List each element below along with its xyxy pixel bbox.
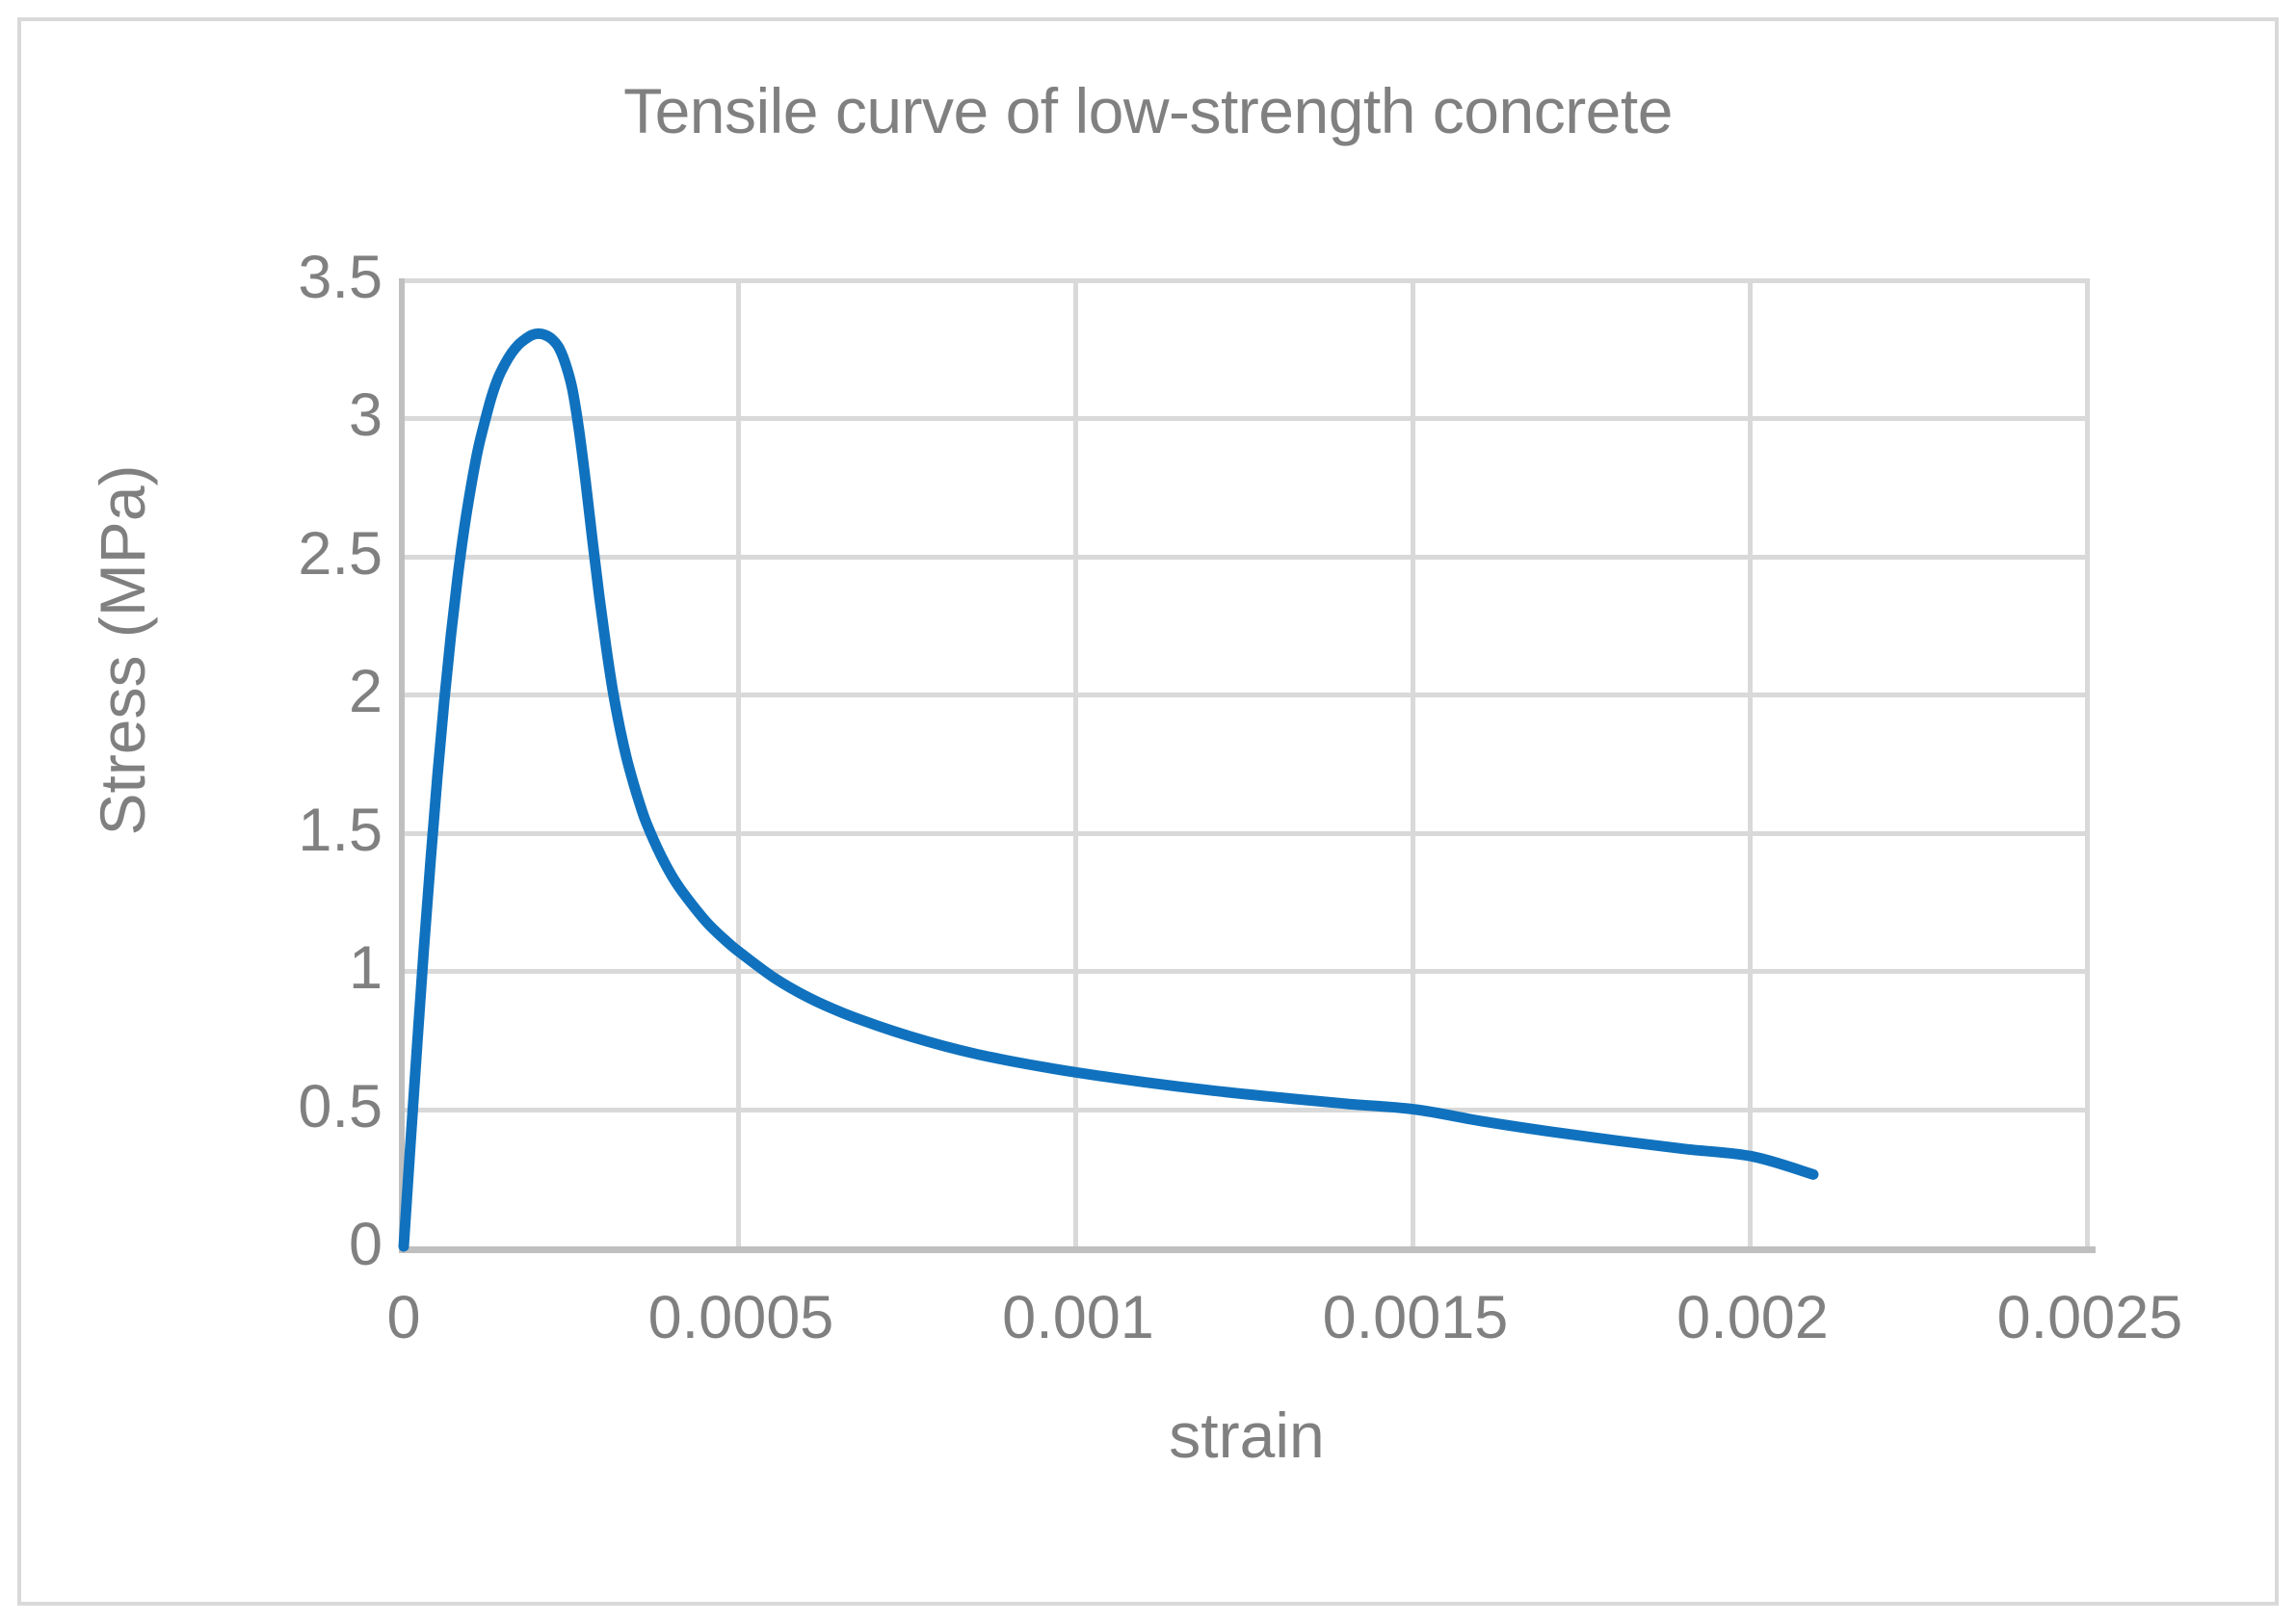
y-tick-label: 2	[132, 662, 383, 722]
x-axis-tick-labels: 0 0.0005 0.001 0.0015 0.002 0.0025	[404, 1288, 2090, 1374]
x-axis-title: strain	[404, 1399, 2090, 1472]
x-axis-line	[399, 1246, 2096, 1253]
x-tick-label: 0	[250, 1288, 558, 1348]
series-line-tensile-curve	[404, 333, 1813, 1246]
y-tick-label: 0.5	[132, 1077, 383, 1138]
x-tick-label: 0.0015	[1261, 1288, 1570, 1348]
y-axis-tick-labels: 3.5 3 2.5 2 1.5 1 0.5 0	[118, 278, 383, 1246]
y-tick-label: 3.5	[132, 248, 383, 308]
y-tick-label: 1.5	[132, 800, 383, 861]
chart-title: Tensile curve of low-strength concrete	[21, 74, 2275, 147]
x-tick-label: 0.0025	[1936, 1288, 2244, 1348]
x-tick-label: 0.002	[1598, 1288, 1907, 1348]
y-tick-label: 3	[132, 385, 383, 446]
plot-area	[404, 278, 2090, 1246]
y-tick-label: 1	[132, 938, 383, 999]
series-curve-svg	[404, 278, 2090, 1246]
y-tick-label: 0	[132, 1215, 383, 1275]
chart-frame: Tensile curve of low-strength concrete S…	[17, 17, 2279, 1606]
x-tick-label: 0.0005	[587, 1288, 895, 1348]
y-tick-label: 2.5	[132, 524, 383, 585]
x-tick-label: 0.001	[924, 1288, 1232, 1348]
